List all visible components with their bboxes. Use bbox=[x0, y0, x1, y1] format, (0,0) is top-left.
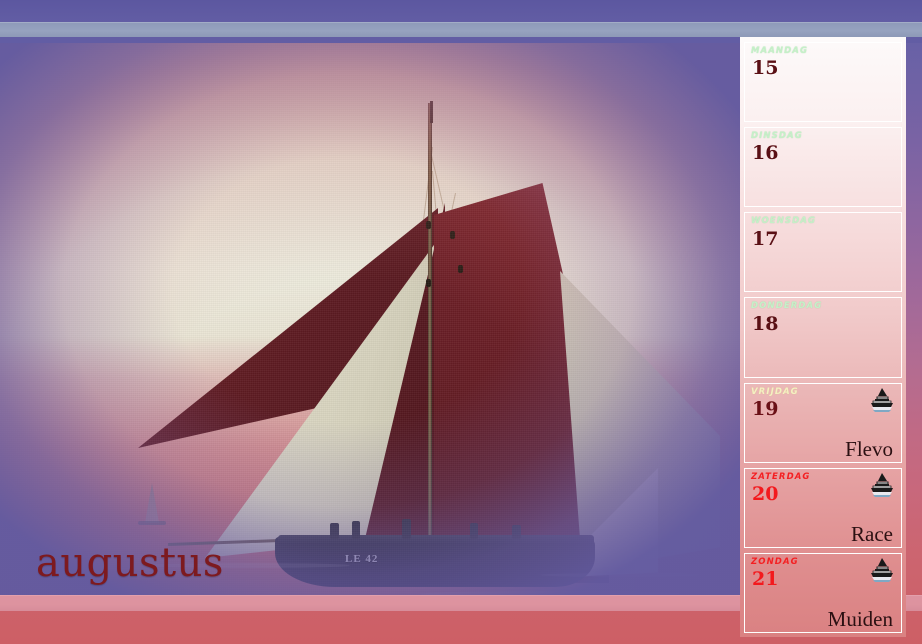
day-of-week-label: WOENSDAG bbox=[751, 217, 895, 226]
day-event-label: Race bbox=[851, 524, 893, 545]
boat-icon bbox=[865, 472, 895, 498]
day-event-label: Flevo bbox=[845, 439, 893, 460]
photo-vignette bbox=[0, 43, 740, 605]
day-number: 18 bbox=[752, 314, 895, 336]
calendar-page: LE 42 augustus MAANDAG 15 DINSDAG 16 WOE… bbox=[0, 0, 922, 644]
boat-icon bbox=[865, 557, 895, 583]
day-of-week-label: DONDERDAG bbox=[751, 302, 895, 311]
day-of-week-label: DINSDAG bbox=[751, 132, 895, 141]
day-cell-vrijdag[interactable]: VRIJDAG 19 Flevo bbox=[744, 383, 902, 463]
day-number: 17 bbox=[752, 229, 895, 251]
day-cell-maandag[interactable]: MAANDAG 15 bbox=[744, 42, 902, 122]
boat-icon bbox=[865, 387, 895, 413]
header-band-light bbox=[0, 22, 922, 37]
header-band-dark bbox=[0, 0, 922, 22]
day-cell-zondag[interactable]: ZONDAG 21 Muiden bbox=[744, 553, 902, 633]
day-event-label: Muiden bbox=[828, 609, 893, 630]
day-of-week-label: MAANDAG bbox=[751, 47, 895, 56]
day-cell-woensdag[interactable]: WOENSDAG 17 bbox=[744, 212, 902, 292]
day-cell-zaterdag[interactable]: ZATERDAG 20 Race bbox=[744, 468, 902, 548]
day-cell-dinsdag[interactable]: DINSDAG 16 bbox=[744, 127, 902, 207]
week-strip: MAANDAG 15 DINSDAG 16 WOENSDAG 17 DONDER… bbox=[740, 37, 906, 637]
day-number: 15 bbox=[752, 58, 895, 80]
day-cell-donderdag[interactable]: DONDERDAG 18 bbox=[744, 297, 902, 377]
day-number: 16 bbox=[752, 143, 895, 165]
month-photo: LE 42 bbox=[0, 43, 740, 605]
page-title: augustus bbox=[36, 540, 224, 586]
